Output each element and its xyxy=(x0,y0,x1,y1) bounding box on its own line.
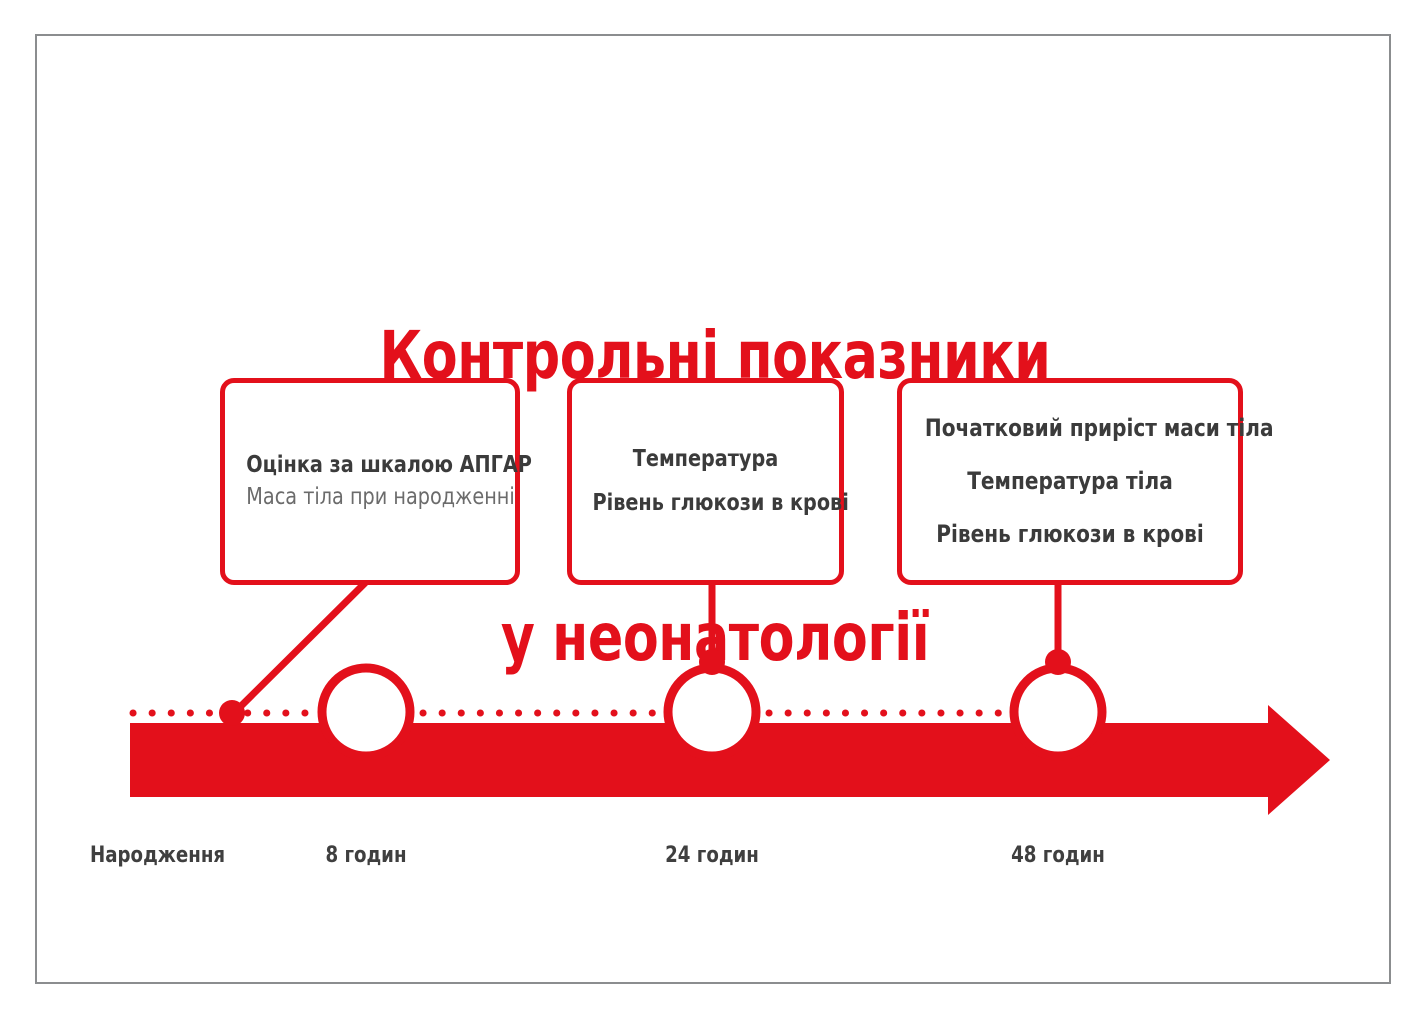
axis-label-24-hours: 24 годин xyxy=(620,843,804,868)
indicator-card-48h[interactable]: Початковий приріст маси тіла Температура… xyxy=(897,378,1243,585)
marker-circle-24h xyxy=(668,668,756,756)
indicator-card-48h-line-1: Початковий приріст маси тіла xyxy=(925,413,1215,444)
marker-circle-8h xyxy=(322,668,410,756)
indicator-card-apgar-line-2: Маса тіла при народженні xyxy=(246,483,493,512)
marker-dot-48h xyxy=(1045,649,1071,675)
indicator-card-apgar[interactable]: Оцінка за шкалою АПГАР Маса тіла при нар… xyxy=(220,378,520,585)
indicator-card-48h-line-3: Рівень глюкози в крові xyxy=(925,519,1215,550)
axis-label-birth: Народження xyxy=(90,843,274,868)
indicator-card-24h[interactable]: Температура Рівень глюкози в крові xyxy=(567,378,844,585)
axis-label-48-hours: 48 годин xyxy=(966,843,1150,868)
infographic-poster: Контрольні показники у неонатології Оцін… xyxy=(0,0,1428,1021)
indicator-card-48h-line-2: Температура тіла xyxy=(925,466,1215,497)
axis-label-8-hours: 8 годин xyxy=(274,843,458,868)
indicator-card-24h-line-1: Температура xyxy=(593,445,819,474)
indicator-card-apgar-line-1: Оцінка за шкалою АПГАР xyxy=(246,451,493,480)
marker-circle-48h xyxy=(1014,668,1102,756)
indicator-card-24h-line-2: Рівень глюкози в крові xyxy=(593,489,819,518)
marker-dot-birth xyxy=(219,700,245,726)
marker-dot-24h xyxy=(699,649,725,675)
